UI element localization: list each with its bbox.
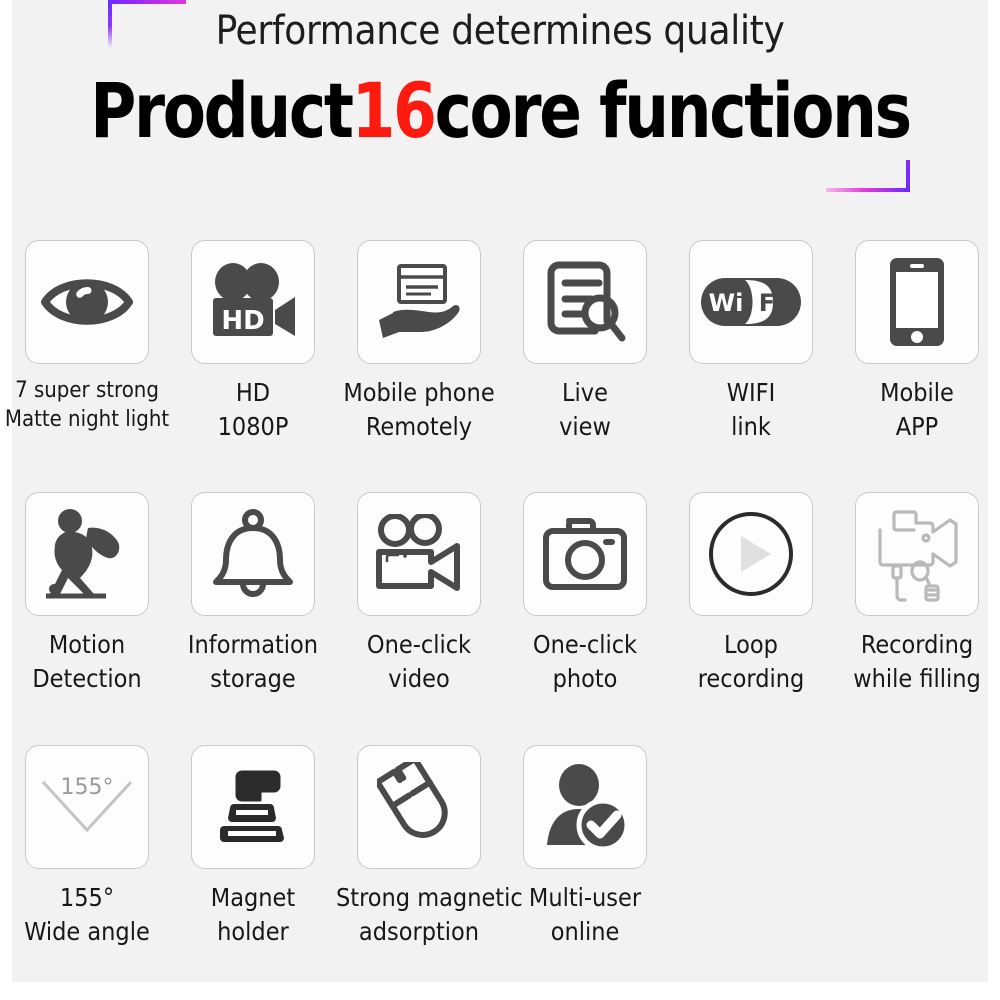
- feature-tile[interactable]: [357, 492, 481, 616]
- feature-label-line2: photo: [502, 662, 668, 696]
- feature-label: Multi-user online: [502, 881, 668, 948]
- corner-bracket-bottom-right-icon: [826, 160, 910, 192]
- hd-camcorder-icon: HD: [207, 262, 299, 342]
- photo-camera-icon: [541, 515, 629, 593]
- feature-item-mobile-remote[interactable]: Mobile phone Remotely: [336, 240, 502, 443]
- feature-label: One-click photo: [502, 628, 668, 695]
- feature-label-line2: Wide angle: [4, 915, 170, 949]
- feature-tile[interactable]: [523, 492, 647, 616]
- feature-tile[interactable]: [25, 492, 149, 616]
- feature-label-line1: One-click: [367, 630, 471, 659]
- feature-label-line1: Motion: [49, 630, 125, 659]
- feature-label-line1: Multi-user: [529, 883, 641, 912]
- feature-label-line1: 7 super strong: [15, 378, 159, 403]
- feature-item-loop-recording[interactable]: Loop recording: [668, 492, 834, 695]
- feature-label-line2: online: [502, 915, 668, 949]
- feature-label-line2: Matte night light: [4, 405, 170, 434]
- feature-tile[interactable]: [523, 745, 647, 869]
- feature-label-line2: storage: [170, 662, 336, 696]
- feature-tile[interactable]: [191, 492, 315, 616]
- page-title: Product16core functions: [40, 66, 960, 155]
- play-circle-icon: [707, 510, 795, 598]
- page-subtitle: Performance determines quality: [0, 8, 1000, 54]
- magnet-icon: [377, 762, 461, 852]
- feature-label: Loop recording: [668, 628, 834, 695]
- feature-item-motion[interactable]: Motion Detection: [4, 492, 170, 695]
- feature-label-line1: 155°: [60, 883, 114, 912]
- feature-item-recording-while-filling[interactable]: Recording while filling: [834, 492, 1000, 695]
- feature-label-line1: Loop: [724, 630, 778, 659]
- feature-label-line2: 1080P: [170, 410, 336, 444]
- feature-label: 7 super strong Matte night light: [4, 376, 170, 435]
- feature-label-line2: video: [336, 662, 502, 696]
- feature-tile[interactable]: [191, 745, 315, 869]
- feature-label-line2: while filling: [834, 662, 1000, 696]
- feature-tile[interactable]: [357, 745, 481, 869]
- feature-label-line1: Mobile: [880, 378, 954, 407]
- feature-label: HD 1080P: [170, 376, 336, 443]
- wifi-icon: Wi Fi: [699, 276, 803, 328]
- feature-item-info-storage[interactable]: Information storage: [170, 492, 336, 695]
- feature-label-line2: Remotely: [336, 410, 502, 444]
- title-suffix: core functions: [435, 66, 910, 155]
- feature-label-line2: adsorption: [336, 915, 502, 949]
- feature-tile[interactable]: 155°: [25, 745, 149, 869]
- feature-tile[interactable]: [523, 240, 647, 364]
- title-number: 16: [352, 66, 435, 155]
- feature-label: One-click video: [336, 628, 502, 695]
- feature-item-eye[interactable]: 7 super strong Matte night light: [4, 240, 170, 435]
- feature-label-line2: holder: [170, 915, 336, 949]
- charging-camera-icon: [868, 504, 966, 604]
- feature-tile[interactable]: HD: [191, 240, 315, 364]
- feature-label-line2: Detection: [4, 662, 170, 696]
- feature-label-line2: link: [668, 410, 834, 444]
- feature-label-line1: One-click: [533, 630, 637, 659]
- document-search-icon: [543, 259, 627, 345]
- feature-tile[interactable]: [357, 240, 481, 364]
- feature-label: Mobile phone Remotely: [336, 376, 502, 443]
- feature-label-line1: HD: [236, 378, 270, 407]
- user-check-icon: [541, 763, 629, 851]
- feature-label: Recording while filling: [834, 628, 1000, 695]
- feature-label: WIFI link: [668, 376, 834, 443]
- feature-label: Motion Detection: [4, 628, 170, 695]
- hd-badge-text: HD: [221, 306, 264, 336]
- feature-item-wifi[interactable]: Wi Fi WIFI link: [668, 240, 834, 443]
- title-prefix: Product: [90, 66, 351, 155]
- feature-label-line1: Live: [562, 378, 608, 407]
- feature-label-line1: Strong magnetic: [336, 883, 523, 912]
- feature-label-line1: WIFI: [727, 378, 775, 407]
- wifi-text-right: Fi: [759, 289, 784, 317]
- feature-item-live-view[interactable]: Live view: [502, 240, 668, 443]
- magnet-holder-icon: [212, 766, 294, 848]
- feature-label: Strong magnetic adsorption: [336, 881, 502, 948]
- infographic-page: Performance determines quality Product16…: [0, 0, 1000, 1000]
- feature-label: Magnet holder: [170, 881, 336, 948]
- hand-phone-icon: [373, 262, 465, 342]
- wide-angle-icon: 155°: [37, 768, 137, 846]
- thief-motion-icon: [44, 508, 130, 600]
- feature-label: Mobile APP: [834, 376, 1000, 443]
- feature-tile[interactable]: Wi Fi: [689, 240, 813, 364]
- feature-item-multi-user[interactable]: Multi-user online: [502, 745, 668, 948]
- feature-tile[interactable]: [25, 240, 149, 364]
- feature-tile[interactable]: [855, 240, 979, 364]
- feature-label-line2: view: [502, 410, 668, 444]
- feature-item-oneclick-video[interactable]: One-click video: [336, 492, 502, 695]
- feature-label: Live view: [502, 376, 668, 443]
- feature-label-line2: APP: [834, 410, 1000, 444]
- feature-tile[interactable]: [855, 492, 979, 616]
- wide-angle-value: 155°: [61, 775, 114, 800]
- feature-tile[interactable]: [689, 492, 813, 616]
- feature-label: 155° Wide angle: [4, 881, 170, 948]
- eye-icon: [39, 267, 135, 337]
- feature-item-mobile-app[interactable]: Mobile APP: [834, 240, 1000, 443]
- feature-label-line1: Information: [188, 630, 318, 659]
- smartphone-icon: [888, 256, 946, 348]
- feature-item-magnet-holder[interactable]: Magnet holder: [170, 745, 336, 948]
- feature-label: Information storage: [170, 628, 336, 695]
- video-camera-icon: [373, 514, 465, 594]
- feature-label-line2: recording: [668, 662, 834, 696]
- header: Performance determines quality Product16…: [0, 0, 1000, 215]
- feature-item-wide-angle[interactable]: 155° 155° Wide angle: [4, 745, 170, 948]
- wifi-text-left: Wi: [709, 289, 744, 317]
- feature-item-oneclick-photo[interactable]: One-click photo: [502, 492, 668, 695]
- bell-icon: [210, 508, 296, 600]
- feature-label-line1: Mobile phone: [343, 378, 494, 407]
- feature-item-magnetic-adsorption[interactable]: Strong magnetic adsorption: [336, 745, 502, 948]
- feature-item-hd[interactable]: HD HD 1080P: [170, 240, 336, 443]
- feature-label-line1: Magnet: [211, 883, 295, 912]
- feature-label-line1: Recording: [861, 630, 973, 659]
